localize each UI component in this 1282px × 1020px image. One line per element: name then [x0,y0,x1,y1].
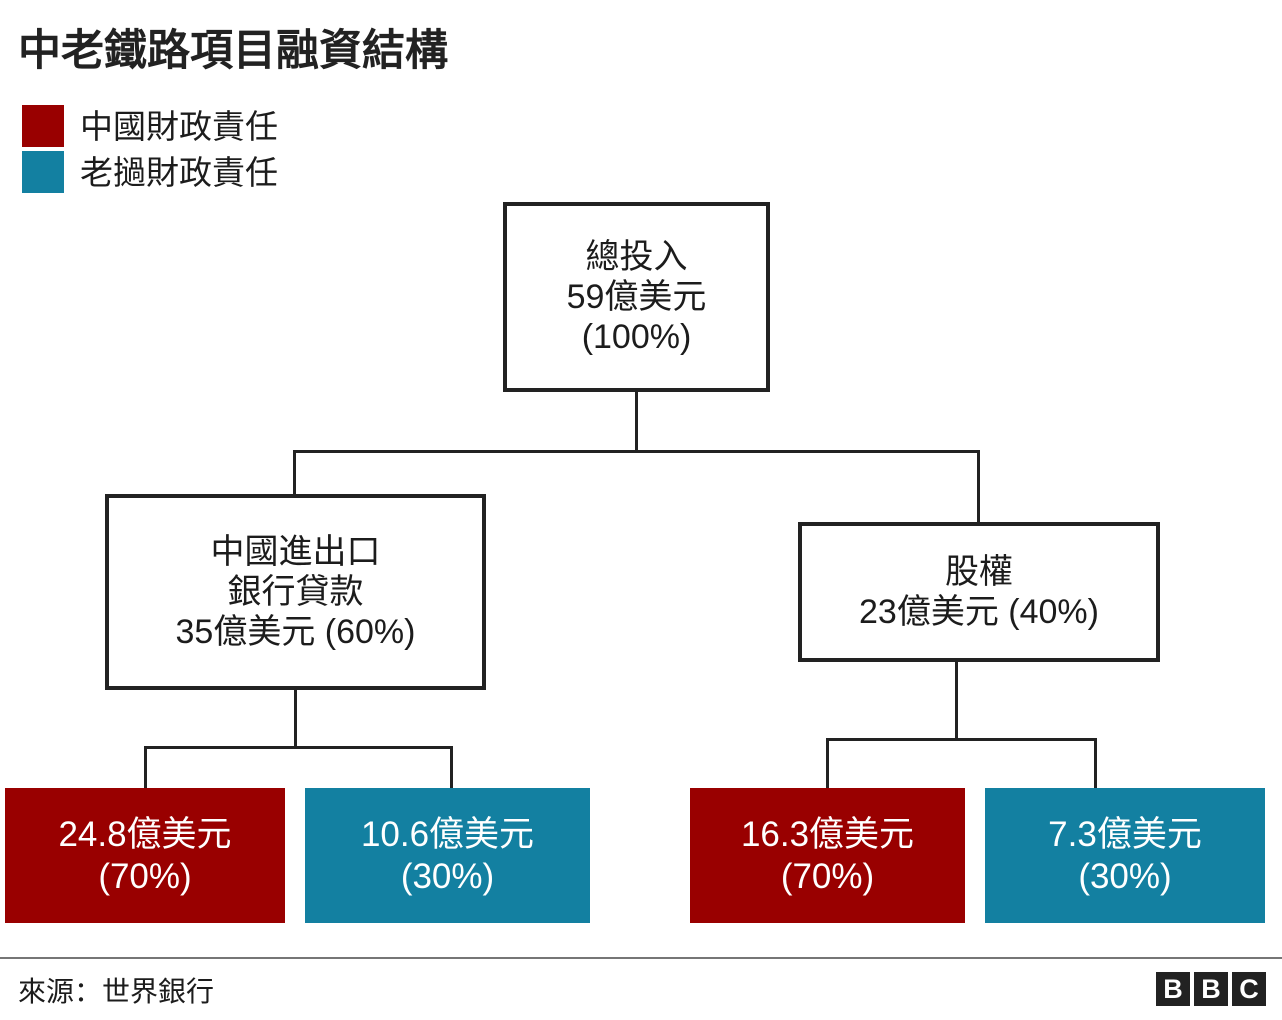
connector-loan-right-drop [450,746,453,790]
node-loan-china-amount: 24.8億美元 [58,814,231,855]
connector-level1-bar [293,450,980,453]
connector-equity-left-drop [826,738,829,790]
node-equity: 股權 23億美元 (40%) [798,522,1160,662]
connector-total-stem [635,392,638,452]
node-total-line3: (100%) [582,317,692,357]
node-total-line2: 59億美元 [567,277,707,317]
node-total-investment: 總投入 59億美元 (100%) [503,202,770,392]
bbc-logo-letter-3: C [1232,972,1266,1006]
connector-loan-left-drop [144,746,147,790]
node-loan-line1: 中國進出口 [211,532,381,572]
node-equity-china-percent: (70%) [781,856,874,897]
connector-equity-stem [955,662,958,740]
connector-loan-stem [294,690,297,748]
financing-structure-diagram: 總投入 59億美元 (100%) 中國進出口 銀行貸款 35億美元 (60%) … [0,0,1282,945]
connector-level1-left-drop [293,450,296,496]
node-equity-china-share: 16.3億美元 (70%) [690,788,965,923]
node-equity-line1: 股權 [945,552,1013,592]
connector-level1-right-drop [977,450,980,524]
node-equity-line2: 23億美元 (40%) [859,592,1099,632]
node-loan-line3: 35億美元 (60%) [176,612,416,652]
bbc-logo-letter-2: B [1194,972,1228,1006]
node-loan-china-share: 24.8億美元 (70%) [5,788,285,923]
connector-equity-bar [826,738,1097,741]
node-total-line1: 總投入 [586,237,688,277]
node-exim-bank-loan: 中國進出口 銀行貸款 35億美元 (60%) [105,494,486,690]
node-loan-laos-amount: 10.6億美元 [361,814,534,855]
bbc-logo: B B C [1156,972,1266,1006]
node-loan-laos-share: 10.6億美元 (30%) [305,788,590,923]
node-equity-laos-amount: 7.3億美元 [1048,814,1202,855]
node-loan-laos-percent: (30%) [401,856,494,897]
connector-equity-right-drop [1094,738,1097,790]
node-equity-china-amount: 16.3億美元 [741,814,914,855]
node-equity-laos-share: 7.3億美元 (30%) [985,788,1265,923]
node-equity-laos-percent: (30%) [1078,856,1171,897]
connector-loan-bar [144,746,453,749]
source-label: 來源：世界銀行 [18,970,214,1010]
node-loan-china-percent: (70%) [98,856,191,897]
footer-divider [0,957,1282,959]
node-loan-line2: 銀行貸款 [228,572,364,612]
bbc-logo-letter-1: B [1156,972,1190,1006]
